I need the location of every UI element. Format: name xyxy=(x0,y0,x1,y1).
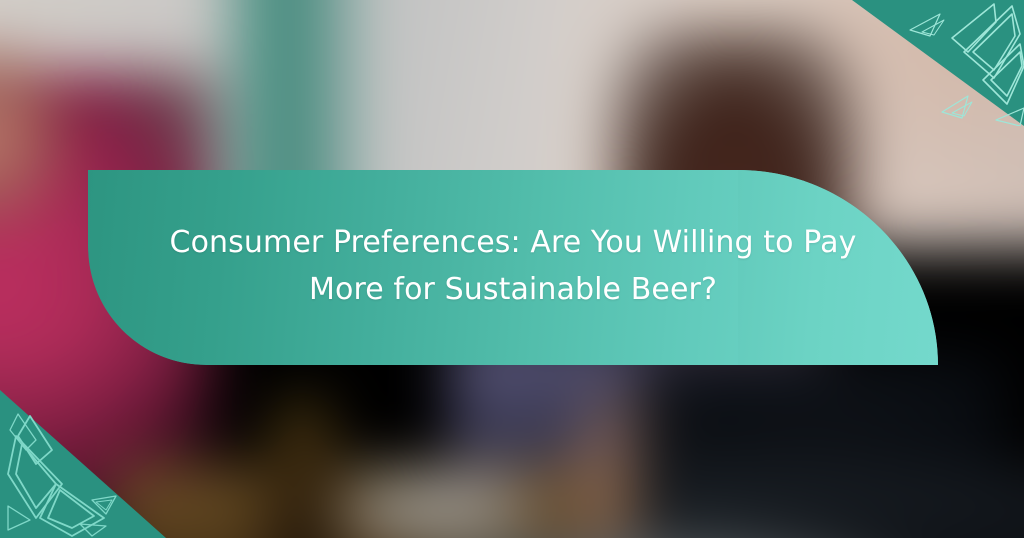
page-title-line-2: More for Sustainable Beer? xyxy=(309,266,717,313)
blog-header-card: Consumer Preferences: Are You Willing to… xyxy=(0,0,1024,538)
bg-vignette xyxy=(0,340,1024,538)
page-title-line-1: Consumer Preferences: Are You Willing to… xyxy=(170,219,857,266)
title-text-block: Consumer Preferences: Are You Willing to… xyxy=(88,170,938,365)
bg-face-left xyxy=(0,42,67,227)
